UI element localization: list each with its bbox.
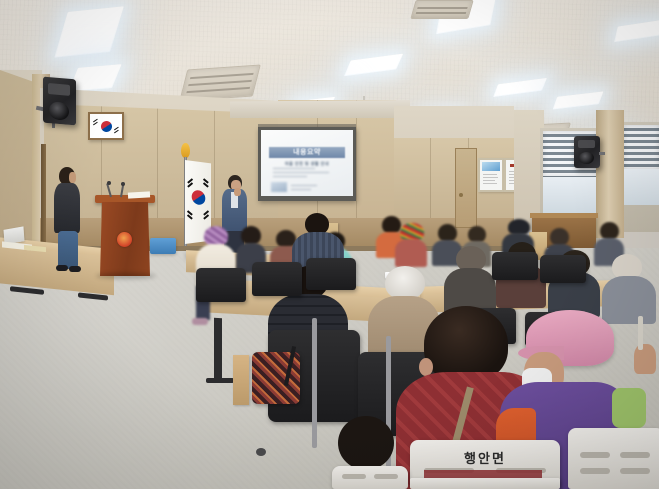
speaker-bracket-right: [599, 152, 605, 155]
plastic-chair-left[interactable]: [332, 466, 408, 489]
audience-head: [338, 416, 394, 470]
microphone-head: [107, 181, 111, 185]
taegeuk-symbol: [189, 188, 208, 208]
chair-venue-label: 행안면: [410, 448, 560, 467]
wall-column-right: [596, 110, 624, 238]
ceiling-soffit: [230, 100, 410, 118]
air-vent: [179, 65, 261, 102]
table-leg: [214, 318, 222, 381]
podium-emblem: [117, 232, 132, 247]
meeting-room-photo: 내용요약 마을 안전 및 생활 안내: [0, 0, 659, 489]
office-chair: [196, 268, 246, 302]
podium-shadow: [96, 273, 156, 279]
window-blinds-right-b: [624, 125, 659, 169]
table-leg: [206, 378, 234, 383]
wall-speaker-left: [43, 77, 76, 126]
audience-headwrap-purple: [204, 226, 228, 246]
plastic-chair-lower-rail: [410, 478, 560, 489]
presenter-hand: [234, 188, 241, 196]
plastic-chair-right[interactable]: [568, 428, 659, 489]
room-door: [455, 148, 477, 228]
window-glass-right-a: [543, 177, 597, 213]
foreground-head-dark: [424, 306, 508, 382]
projection-screen: 내용요약 마을 안전 및 생활 안내: [258, 127, 356, 201]
blue-basket: [150, 238, 176, 254]
office-chair: [252, 262, 302, 296]
paper-shopping-bag: [233, 355, 249, 405]
office-chair: [540, 255, 586, 283]
staff-face: [69, 172, 76, 183]
held-stick: [638, 316, 643, 350]
window-glass-right-b: [624, 169, 659, 205]
microphone-head: [121, 182, 125, 186]
air-vent: [410, 0, 473, 19]
framed-korean-flag: [88, 112, 124, 140]
papers-on-podium: [128, 191, 150, 198]
staff-shoe: [56, 265, 68, 271]
staff-shoe: [69, 266, 81, 272]
slide-image: [271, 182, 287, 192]
staff-torso: [54, 183, 80, 233]
audience-head-white-hair: [385, 266, 425, 300]
cabinet-top: [530, 213, 598, 218]
podium: [100, 202, 150, 276]
framed-notice-left: [478, 158, 504, 192]
audience-torso: [395, 239, 427, 267]
taegeuk-symbol: [99, 119, 114, 134]
wall-speaker-right: [574, 136, 600, 168]
flag-finial: [181, 143, 190, 158]
slide-heading: 내용요약: [269, 147, 345, 158]
staff-legs: [58, 231, 78, 269]
projection-screen-surface: 내용요약 마을 안전 및 생활 안내: [261, 130, 353, 196]
office-chair: [492, 252, 538, 280]
chair-leg: [312, 318, 317, 448]
slide-subtitle: 마을 안전 및 생활 안내: [269, 161, 345, 167]
chair-caster: [256, 448, 266, 456]
foreground-green-collar: [612, 388, 646, 428]
audience-torso: [602, 276, 656, 324]
office-chair: [306, 258, 356, 290]
audience-shoe: [192, 318, 208, 325]
